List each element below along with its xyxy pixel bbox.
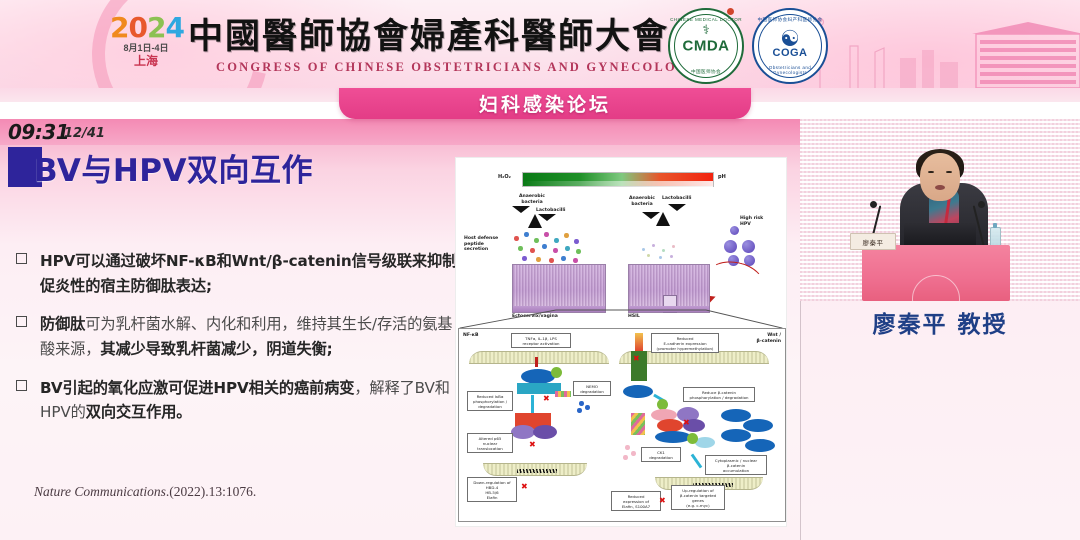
broadcast-screen: 2024 8月1日-4日 上海 中國醫師協會婦產科醫師大會新起 CONGRESS… [0,0,1080,540]
bullet-square-icon [16,316,27,327]
signaling-mechanism-panel: NF-κB Wnt / β-catenin TNFα, IL-1β, LPS r… [458,328,786,522]
podium-nameplate-text: 廖秦平 [863,237,884,247]
signal-arrow-left [531,395,534,413]
podium [862,245,1010,301]
box-nemo-degradation: NEMO degradation [573,381,611,396]
epithelium-ectocervix [512,264,606,313]
beta-catenin-pool [745,439,775,452]
coga-emblem: 中国医师协会妇产科医师分会 ☯ COGA Obstetricians and G… [752,8,828,84]
inhibition-x-icon: ✖ [633,355,640,363]
congress-title-chinese: 中國醫師協會婦產科醫師大會新起 [188,8,723,59]
balance-scale-right [642,204,690,226]
logo-digit-1: 2 [110,11,128,44]
citation-details: .(2022).13:1076. [166,484,256,499]
protein-nemo [521,369,555,384]
box-upregulation-beta-catenin-genes: Up-regulation of β-catenin targeted gene… [671,485,725,510]
balance-scale-left [512,206,560,228]
inhibition-x-icon: ✖ [659,497,666,505]
microphone-head-right [978,201,985,208]
box-reduced-elafin-s100a7: Reduced expression of Elafin, S100A7 [611,491,661,511]
speaker-mouth [935,185,945,190]
figure-label-h2o2: H₂O₂ [498,174,511,180]
speaker-video-panel: 廖秦平 廖秦平 教授 [800,119,1080,540]
bullet-3-seg-3: 双向交互作用。 [86,403,192,421]
seal-dot-icon [727,8,734,15]
box-reduce-beta-catenin-phosphorylation: Reduce β-catenin phosphorylation / degra… [683,387,755,402]
ubiquitin-chain-right [631,413,645,435]
hpv-virion-icon [730,226,739,235]
protein-p65 [533,425,557,439]
bullet-item-3: BV引起的氧化应激可促进HPV相关的癌前病变，解释了BV和HPV的双向交互作用。 [14,376,459,425]
slide-bullet-list: HPV可以通过破坏NF-κB和Wnt/β-catenin信号级联来抑制促炎性的宿… [14,249,459,439]
box-cytoplasmic-nuclear-accumulation: Cytoplasmic / nuclear β-catenin accumula… [705,455,767,475]
box-reduced-e-cadherin: Reduced E-cadherin expression (promoter … [651,333,719,353]
inhibition-x-icon: ✖ [683,419,690,427]
figure-label-wnt: Wnt / β-catenin [749,333,781,344]
slide-title: BV与HPV双向互作 [34,145,313,190]
citation-journal: Nature Communications [34,484,166,499]
cmda-emblem-text: CMDA [670,38,742,55]
bullet-2-seg-3: 其减少导致乳杆菌减少，阴道失衡; [100,340,332,358]
receptor-arrow-left [535,357,538,367]
hpv-virion-icon [724,240,737,253]
live-video-feed[interactable]: 廖秦平 [800,119,1080,301]
presentation-slide: 09:31 12/41 BV与HPV双向互作 HPV可以通过破坏NF-κB和Wn… [0,119,800,540]
e-cadherin-receptor [635,333,643,351]
caduceus-icon: ⚕ [702,22,709,38]
inhibition-x-icon: ✖ [529,441,536,449]
figure-label-lactobacilli-right: Lactobacilli [662,196,692,202]
inhibition-x-icon: ✖ [521,483,528,491]
logo-digit-4: 4 [165,11,183,44]
bullet-square-icon [16,253,27,264]
slide-page-counter: 12/41 [64,126,105,141]
figure-label-anaerobic-left: Anaerobic bacteria [510,194,554,205]
cmda-emblem: CHINESE MEDICAL DOCTOR ⚕ CMDA 中国医师协会 [668,8,744,84]
protein-destruction-complex [655,431,691,443]
microphone-head-left [870,201,877,208]
logo-digit-2: 0 [128,11,146,44]
conference-year-logo: 2024 8月1日-4日 上海 [110,14,182,67]
congress-title-chinese-main: 中國醫師協會婦產科醫師大會 [188,16,669,57]
hpv-virion-icon [742,240,755,253]
forum-banner-label: 妇科感染论坛 [479,90,611,117]
dna-strand-left [517,469,557,473]
phospho-marker [551,367,562,378]
phospho-marker [687,433,698,444]
ph-gradient-bar [522,172,714,187]
figure-label-host-defense: Host defense peptide secretion [464,236,506,253]
box-tnf-receptor-activation: TNFα, IL-1β, LPS receptor activation [511,333,571,348]
coga-emblem-arc-top: 中国医师协会妇产科医师分会 [754,17,826,23]
box-reduced-ikba-phosphorylation: Reduced IκBα phosphorylation / degradati… [467,391,513,411]
box-downregulation-hbd: Down-regulation of HBD-4 HB-5/6 Elafin [467,477,517,502]
forum-banner: 妇科感染论坛 [339,88,751,119]
slide-citation: Nature Communications.(2022).13:1076. [34,484,256,500]
protein-beta-catenin-1 [623,385,653,398]
figure-label-high-risk-hpv: High risk HPV [740,216,778,227]
epithelium-hsil [628,264,710,313]
conference-header: 2024 8月1日-4日 上海 中國醫師協會婦產科醫師大會新起 CONGRESS… [0,0,1080,88]
podium-nameplate: 廖秦平 [850,233,896,250]
figure-label-nfkb: NF-κB [463,333,479,339]
bullet-square-icon [16,380,27,391]
box-ck1-degradation: CK1 degradation [641,447,681,462]
logo-digit-3: 2 [147,11,165,44]
bullet-item-2: 防御肽可为乳杆菌水解、内化和利用，维持其生长/存活的氨基酸来源，其减少导致乳杆菌… [14,312,459,361]
beta-catenin-pool [743,419,773,432]
inhibition-x-icon: ✖ [543,395,550,403]
protein-btrcp [695,437,715,448]
conference-dates: 8月1日-4日 [110,44,182,53]
bullet-3-seg-1: BV引起的氧化应激可促进HPV相关的癌前病变 [40,379,354,397]
cmda-emblem-arc-bottom: 中国医师协会 [670,69,742,75]
ubiquitin-chain-left [555,391,571,397]
speaker-head [920,153,960,201]
slide-top-strip [0,119,800,145]
bullet-2-seg-1: 防御肽 [40,315,85,333]
podium-seal-icon [912,275,960,301]
coga-emblem-arc-bottom: Obstetricians and Gynecologists [754,65,826,75]
bullet-1-text: HPV可以通过破坏NF-κB和Wnt/β-catenin信号级联来抑制促炎性的宿… [40,252,457,295]
congress-title-english: CONGRESS OF CHINESE OBSTETRICIANS AND GY… [216,60,725,75]
beta-catenin-pool [721,429,751,442]
cell-membrane-left [469,351,609,364]
coga-emblem-text: COGA [754,47,826,59]
nature-communications-figure: H₂O₂ pH Anaerobic bacteria Lactobacilli … [455,157,787,527]
box-altered-p65-translocation: Altered p65 nuclear translocation [467,433,513,453]
bullet-item-1: HPV可以通过破坏NF-κB和Wnt/β-catenin信号级联来抑制促炎性的宿… [14,249,459,298]
figure-label-ph: pH [718,174,726,180]
protein-p50 [511,425,535,439]
session-clock: 09:31 [8,120,69,144]
speaker-name-label: 廖秦平 教授 [800,305,1080,339]
signal-arrow-accumulation [691,454,703,469]
conference-city: 上海 [110,55,182,67]
